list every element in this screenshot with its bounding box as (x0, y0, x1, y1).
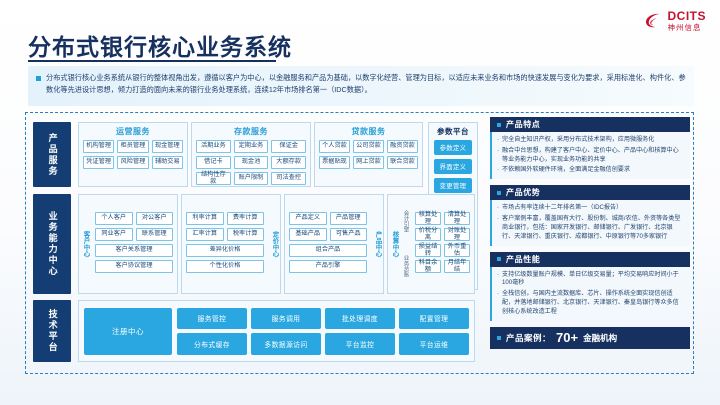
group-loan-service: 贷款服务 个人贷款 公司贷款 融资贷款 票据贴现 网上贷款 联合贷款 (314, 122, 423, 187)
register-center-tile[interactable]: 注册中心 (84, 308, 172, 355)
cell-row: 借记卡 现金池 大额存款 (192, 156, 310, 172)
cell[interactable]: 定期业务 (234, 140, 269, 153)
dot-icon: · (497, 136, 499, 145)
cell-row: 个性化价格 (182, 260, 268, 276)
case-label: 产品案例： (506, 332, 551, 344)
cell[interactable]: 价税分离 (415, 228, 441, 241)
card-header: 产品特点 (490, 117, 690, 132)
cell[interactable]: 核算处理 (415, 212, 441, 225)
center-sublabels: 会计引擎 业务总账 (400, 195, 411, 293)
center-label: 核算中心 (388, 195, 400, 293)
cell[interactable]: 组合产品 (289, 244, 367, 257)
cell[interactable]: 风险管理 (117, 156, 148, 169)
tech-tile[interactable]: 服务管控 (177, 308, 247, 330)
dot-icon: · (497, 290, 499, 316)
page-title: 分布式银行核心业务系统 (28, 28, 292, 62)
cell[interactable]: 大额存款 (271, 156, 306, 169)
cell[interactable]: 公司贷款 (353, 140, 384, 153)
cell-row: 利率计算 费率计算 (182, 212, 268, 228)
rail-technology-platform: 技术平台 (33, 300, 71, 362)
cell[interactable]: 损益结转 (415, 244, 441, 257)
list-item: ·全栈信创，与国内主流数据库、芯片、操作系统全面实现信创适配，并落地邮储银行、北… (497, 290, 684, 316)
group-title: 参数平台 (429, 126, 477, 137)
rail-product-service: 产品服务 (33, 122, 71, 187)
cell-row: 差异化价格 (182, 244, 268, 260)
cell[interactable]: 差异化价格 (186, 244, 264, 257)
cell-row: 客户协议管理 (91, 260, 177, 276)
tech-tile[interactable]: 分布式缓存 (177, 333, 247, 355)
dot-icon: · (497, 204, 499, 213)
list-item-text: 全栈信创，与国内主流数据库、芯片、操作系统全面实现信创适配，并落地邮储银行、北京… (502, 290, 684, 316)
cell[interactable]: 个人客户 (95, 212, 133, 225)
cell[interactable]: 产品引擎 (289, 260, 367, 273)
param-chip[interactable]: 变更管理 (434, 178, 472, 193)
rail-business-capability-center: 业务能力中心 (33, 194, 71, 294)
case-unit: 金融机构 (583, 332, 617, 344)
center-label: 定价中心 (268, 195, 280, 293)
cell-row: 产品定义 产品管理 (285, 212, 371, 228)
list-item-text: 不依赖国外软硬件环境，全面满足金融信创要求 (502, 166, 630, 175)
cell-row: 价税分离 对账处理 (411, 228, 474, 244)
cell-row: 客户关系管理 (91, 244, 177, 260)
dot-icon: · (497, 271, 499, 289)
cell-row: 个人客户 对公客户 (91, 212, 177, 228)
tech-tile[interactable]: 多数据源访问 (251, 333, 321, 355)
cell[interactable]: 利率计算 (186, 212, 224, 225)
card-title: 产品特点 (506, 119, 540, 130)
card-product-features: 产品特点 ·完全自主知识产权，采用分布式技术架构，应用微服务化 ·融合中台思想，… (490, 117, 690, 179)
dcits-swoosh-icon (644, 11, 664, 31)
square-bullet-icon (497, 123, 501, 127)
cell-row: 汇率计算 税率计算 (182, 228, 268, 244)
tech-tile[interactable]: 平台监控 (325, 333, 395, 355)
tech-tile-grid: 服务管控 服务调用 批处理调度 配置管理 分布式缓存 多数据源访问 平台监控 平… (177, 308, 469, 355)
list-item: ·客户案例丰富，覆盖国有大行、股份制、城商/农信、外资等各类型商业银行，包括：国… (497, 215, 684, 241)
square-bullet-icon (36, 76, 41, 81)
cell[interactable]: 结构性存款 (196, 172, 231, 185)
param-chip[interactable]: 参数定义 (434, 140, 472, 155)
case-count: 70+ (556, 330, 578, 345)
brand-text: DCITS 神州信息 (668, 10, 707, 32)
group-product-center: 产品定义 产品管理 基础产品 可售产品 组合产品 产品引擎 产品中心 (284, 194, 384, 294)
list-item-text: 融合中台思想，构建了客户中心、定价中心、产品中心和核算中心等业务能力中心，实现业… (502, 147, 684, 165)
cell[interactable]: 账户限制 (234, 172, 269, 185)
cell[interactable]: 现金池 (234, 156, 269, 169)
cell-row: 同业客户 联系管理 (91, 228, 177, 244)
cell[interactable]: 费率计算 (227, 212, 265, 225)
group-operation-service: 运营服务 机构管理 柜员管理 现金管理 凭证管理 风险管理 辅助交易 (78, 122, 188, 187)
list-item: ·不依赖国外软硬件环境，全面满足金融信创要求 (497, 166, 684, 175)
card-product-performance: 产品性能 ·支持亿级数量账户规模、单日亿级交易量；平均交易响应时间小于100毫秒… (490, 252, 690, 321)
cell-row: 活期业务 定期业务 保证金 (192, 140, 310, 156)
cell-row: 损益结转 外币重估 (411, 244, 474, 260)
list-item-text: 客户案例丰富，覆盖国有大行、股份制、城商/农信、外资等各类型商业银行，包括：国家… (502, 215, 684, 241)
card-header: 产品优势 (490, 185, 690, 200)
cell[interactable]: 清算处理 (444, 212, 470, 225)
card-body: ·支持亿级数量账户规模、单日亿级交易量；平均交易响应时间小于100毫秒 ·全栈信… (490, 267, 690, 321)
cell-row: 基础产品 可售产品 (285, 228, 371, 244)
cell[interactable]: 客户关系管理 (95, 244, 173, 257)
cell[interactable]: 月结年结 (444, 260, 470, 273)
group-technology-platform: 注册中心 服务管控 服务调用 批处理调度 配置管理 分布式缓存 多数据源访问 平… (78, 300, 475, 362)
card-body: ·完全自主知识产权，采用分布式技术架构，应用微服务化 ·融合中台思想，构建了客户… (490, 132, 690, 179)
cell-row: 机构管理 柜员管理 现金管理 (79, 140, 187, 156)
brand-name-en: DCITS (668, 10, 707, 22)
cell[interactable]: 保证金 (271, 140, 306, 153)
param-chip[interactable]: 界面定义 (434, 159, 472, 174)
group-accounting-center: 核算中心 会计引擎 业务总账 核算处理 清算处理 价税分离 对账处理 损益结转 … (387, 194, 475, 294)
cell[interactable]: 产品管理 (330, 212, 368, 225)
cell[interactable]: 个性化价格 (186, 260, 264, 273)
brand-logo: DCITS 神州信息 (644, 10, 707, 32)
group-title: 贷款服务 (315, 126, 422, 137)
intro-text: 分布式银行核心业务系统从银行的整体视角出发，遵循以客户为中心，以金融服务和产品为… (46, 72, 686, 96)
square-bullet-icon (497, 191, 501, 195)
tech-tile[interactable]: 批处理调度 (325, 308, 395, 330)
cell[interactable]: 辅助交易 (152, 156, 183, 169)
cell[interactable]: 外币重估 (444, 244, 470, 257)
cell[interactable]: 联合贷款 (387, 156, 418, 169)
cell[interactable]: 对账处理 (444, 228, 470, 241)
slide-page: DCITS 神州信息 分布式银行核心业务系统 分布式银行核心业务系统从银行的整体… (0, 0, 720, 405)
cell[interactable]: 借记卡 (196, 156, 231, 169)
center-label: 产品中心 (371, 195, 383, 293)
center-label: 客户中心 (79, 195, 91, 293)
group-title: 存款服务 (192, 126, 310, 137)
tech-tile[interactable]: 配置管理 (399, 308, 469, 330)
list-item: ·融合中台思想，构建了客户中心、定价中心、产品中心和核算中心等业务能力中心，实现… (497, 147, 684, 165)
card-title: 产品优势 (506, 187, 540, 198)
architecture-diagram: 产品服务 业务能力中心 技术平台 运营服务 机构管理 柜员管理 现金管理 凭证管… (30, 117, 480, 369)
card-product-advantages: 产品优势 ·市场占有率连续十二年排名第一（IDC报告） ·客户案例丰富，覆盖国有… (490, 185, 690, 245)
list-item: ·支持亿级数量账户规模、单日亿级交易量；平均交易响应时间小于100毫秒 (497, 271, 684, 289)
cell-row: 票据贴现 网上贷款 联合贷款 (315, 156, 422, 172)
cell-row: 核算处理 清算处理 (411, 212, 474, 228)
product-case-banner: 产品案例： 70+ 金融机构 (490, 327, 690, 349)
brand-name-cn: 神州信息 (668, 24, 707, 32)
cell-row: 结构性存款 账户限制 司法查控 (192, 172, 310, 188)
cell-row: 组合产品 (285, 244, 371, 260)
cell[interactable]: 税率计算 (227, 228, 265, 241)
card-body: ·市场占有率连续十二年排名第一（IDC报告） ·客户案例丰富，覆盖国有大行、股份… (490, 200, 690, 245)
title-underline (28, 60, 276, 62)
cell-row: 科目余额 月结年结 (411, 260, 474, 276)
cell[interactable]: 对公客户 (136, 212, 174, 225)
cell[interactable]: 融资贷款 (387, 140, 418, 153)
sublabel: 业务总账 (402, 255, 410, 277)
cell[interactable]: 个人贷款 (319, 140, 350, 153)
cell[interactable]: 客户协议管理 (95, 260, 173, 273)
intro-banner: 分布式银行核心业务系统从银行的整体视角出发，遵循以客户为中心，以金融服务和产品为… (28, 66, 694, 106)
list-item-text: 完全自主知识产权，采用分布式技术架构，应用微服务化 (502, 136, 654, 145)
cell-row: 产品引擎 (285, 260, 371, 276)
cell[interactable]: 活期业务 (196, 140, 231, 153)
cell[interactable]: 现金管理 (152, 140, 183, 153)
group-pricing-center: 利率计算 费率计算 汇率计算 税率计算 差异化价格 个性化价格 定价中心 (181, 194, 281, 294)
cell[interactable]: 科目余额 (415, 260, 441, 273)
dot-icon: · (497, 215, 499, 241)
dot-icon: · (497, 166, 499, 175)
card-header: 产品性能 (490, 252, 690, 267)
cell[interactable]: 机构管理 (83, 140, 114, 153)
cell-row: 个人贷款 公司贷款 融资贷款 (315, 140, 422, 156)
list-item-text: 市场占有率连续十二年排名第一（IDC报告） (502, 204, 622, 213)
tech-tile[interactable]: 平台运维 (399, 333, 469, 355)
cell[interactable]: 同业客户 (95, 228, 133, 241)
list-item: ·完全自主知识产权，采用分布式技术架构，应用微服务化 (497, 136, 684, 145)
card-title: 产品性能 (506, 254, 540, 265)
cell[interactable]: 基础产品 (289, 228, 327, 241)
cell[interactable]: 柜员管理 (117, 140, 148, 153)
tech-tile[interactable]: 服务调用 (251, 308, 321, 330)
sublabel: 会计引擎 (402, 210, 410, 232)
cell[interactable]: 联系管理 (136, 228, 174, 241)
cell[interactable]: 汇率计算 (186, 228, 224, 241)
list-item: ·市场占有率连续十二年排名第一（IDC报告） (497, 204, 684, 213)
group-title: 运营服务 (79, 126, 187, 137)
cell[interactable]: 司法查控 (271, 172, 306, 185)
cell[interactable]: 产品定义 (289, 212, 327, 225)
group-deposit-service: 存款服务 活期业务 定期业务 保证金 借记卡 现金池 大额存款 结构性存款 账户… (191, 122, 311, 187)
cell[interactable]: 可售产品 (330, 228, 368, 241)
group-customer-center: 客户中心 个人客户 对公客户 同业客户 联系管理 客户关系管理 客户协议管理 (78, 194, 178, 294)
cell[interactable]: 票据贴现 (319, 156, 350, 169)
cell-row: 凭证管理 风险管理 辅助交易 (79, 156, 187, 172)
square-bullet-icon (497, 336, 501, 340)
cell[interactable]: 网上贷款 (353, 156, 384, 169)
dot-icon: · (497, 147, 499, 165)
info-cards-column: 产品特点 ·完全自主知识产权，采用分布式技术架构，应用微服务化 ·融合中台思想，… (490, 117, 690, 349)
cell[interactable]: 凭证管理 (83, 156, 114, 169)
square-bullet-icon (497, 257, 501, 261)
list-item-text: 支持亿级数量账户规模、单日亿级交易量；平均交易响应时间小于100毫秒 (502, 271, 684, 289)
